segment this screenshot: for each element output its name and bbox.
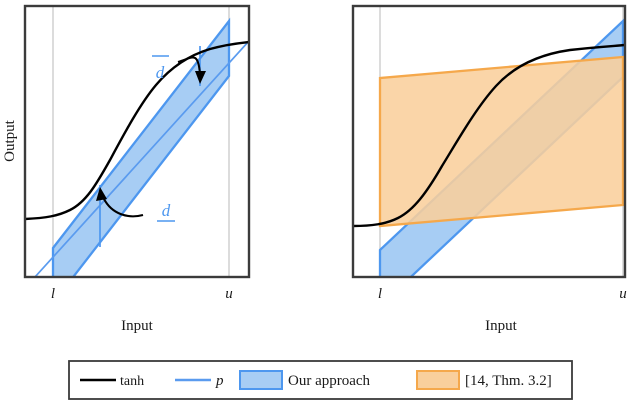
left-xaxis-title: Input	[121, 318, 153, 334]
left-tick-u: u	[225, 286, 233, 302]
figure-svg: d d l u Input Output l	[0, 0, 640, 403]
right-xaxis-title: Input	[485, 318, 517, 334]
left-tick-l: l	[51, 286, 55, 302]
annotation-d-lower-text: d	[162, 201, 171, 220]
legend-p-label: p	[215, 373, 224, 389]
figure-root: d d l u Input Output l	[0, 0, 640, 403]
annotation-d-upper-text: d	[156, 63, 165, 82]
legend-our-approach[interactable]: Our approach	[240, 371, 371, 389]
figure-legend: tanh p Our approach [14, Thm. 3.2]	[69, 361, 572, 399]
left-yaxis-title: Output	[2, 119, 18, 162]
right-tick-l: l	[378, 286, 382, 302]
legend-tanh-label: tanh	[120, 374, 144, 389]
legend-our-approach-label: Our approach	[288, 373, 371, 389]
legend-thm-3-2-label: [14, Thm. 3.2]	[465, 373, 552, 389]
legend-thm-3-2-swatch	[417, 371, 459, 389]
legend-thm-3-2[interactable]: [14, Thm. 3.2]	[417, 371, 552, 389]
thm-3-2-band	[380, 57, 623, 226]
right-tick-u: u	[619, 286, 627, 302]
legend-our-approach-swatch	[240, 371, 282, 389]
